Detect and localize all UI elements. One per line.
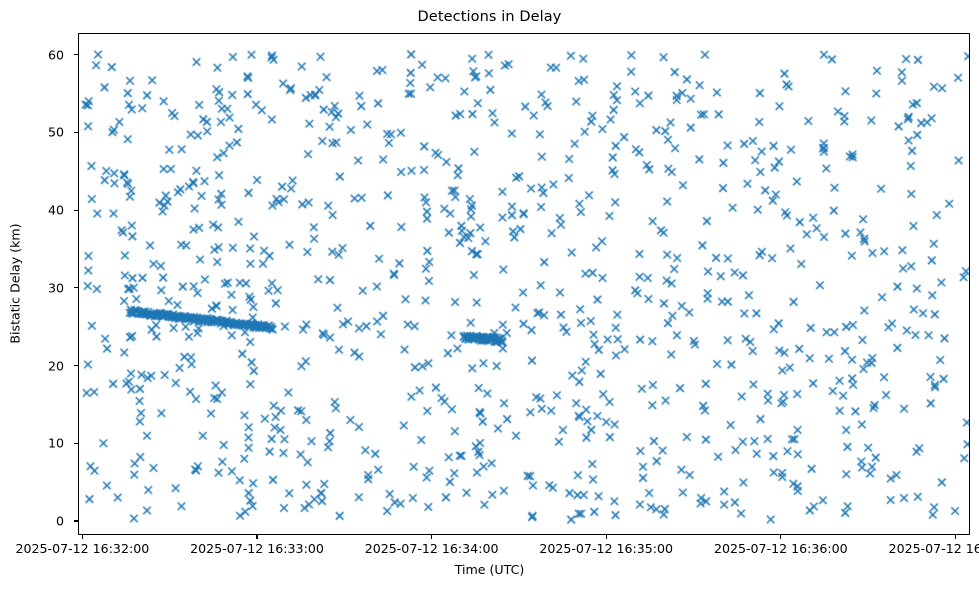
x-tick-mark	[82, 535, 83, 539]
matplotlib-figure: Detections in Delay 2025-07-12 16:32:002…	[0, 0, 979, 590]
x-tick-label: 2025-07-12 16:34:00	[365, 541, 499, 556]
page-title: Detections in Delay	[0, 9, 979, 25]
y-tick-mark	[74, 443, 78, 444]
x-axis-label: Time (UTC)	[0, 562, 979, 577]
x-tick-mark	[955, 535, 956, 539]
x-tick-label: 2025-07-12 16:35:00	[539, 541, 673, 556]
x-tick-label: 2025-07-12 16:33:00	[190, 541, 324, 556]
y-tick-mark	[74, 365, 78, 366]
y-axis-label: Bistatic Delay (km)	[8, 33, 23, 535]
y-tick-mark	[74, 210, 78, 211]
x-tick-mark	[780, 535, 781, 539]
scatter-plot-canvas	[79, 34, 970, 535]
y-tick-mark	[74, 287, 78, 288]
plot-axes	[78, 33, 970, 535]
y-tick-mark	[74, 520, 78, 521]
y-tick-mark	[74, 54, 78, 55]
y-tick-mark	[74, 132, 78, 133]
x-tick-mark	[431, 535, 432, 539]
x-tick-label: 2025-07-12 16:37:00	[889, 541, 979, 556]
x-tick-mark	[606, 535, 607, 539]
x-tick-mark	[256, 535, 257, 539]
x-tick-label: 2025-07-12 16:36:00	[714, 541, 848, 556]
